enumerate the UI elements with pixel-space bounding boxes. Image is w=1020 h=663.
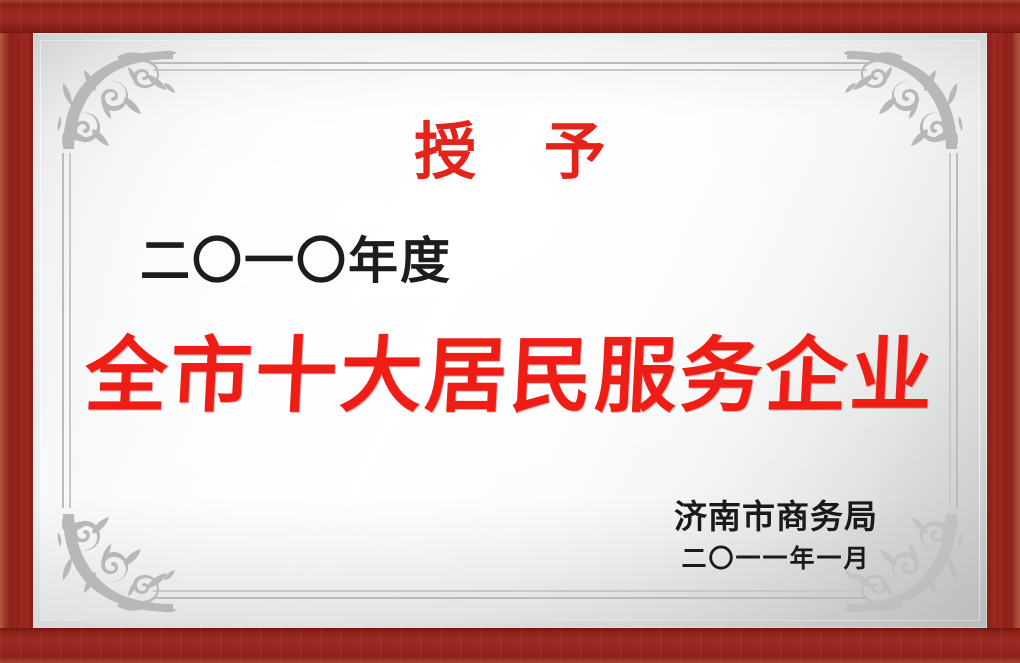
- issuer-block: 济南市商务局 二〇一一年一月: [656, 498, 896, 574]
- plaque-inscription: 授 予 二〇一〇年度 全市十大居民服务企业 济南市商务局 二〇一一年一月: [0, 0, 1020, 663]
- award-title-text: 全市十大居民服务企业: [0, 336, 1020, 418]
- award-year-text: 二〇一〇年度: [140, 236, 452, 286]
- award-plaque: 授 予 二〇一〇年度 全市十大居民服务企业 济南市商务局 二〇一一年一月: [0, 0, 1020, 663]
- issuer-date-text: 二〇一一年一月: [656, 545, 896, 574]
- award-header-text: 授 予: [0, 122, 1020, 184]
- issuer-organization-text: 济南市商务局: [656, 498, 896, 536]
